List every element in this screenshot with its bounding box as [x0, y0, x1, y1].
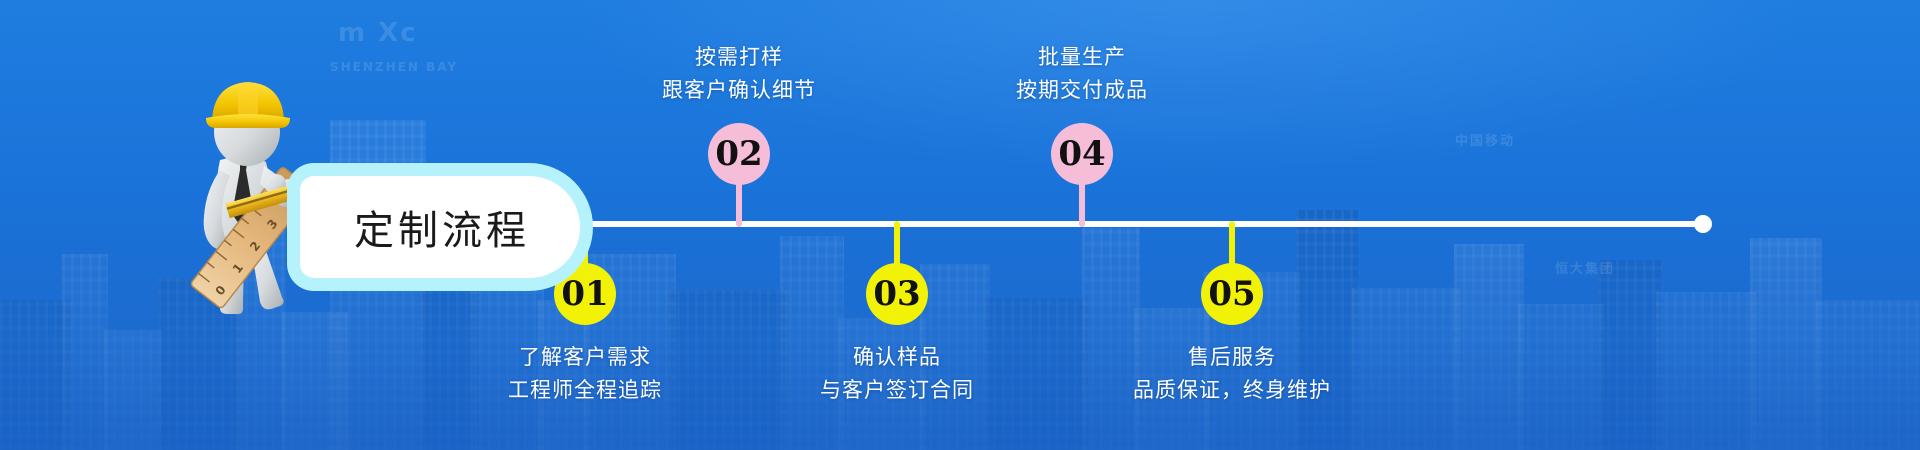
step-caption: 确认样品 与客户签订合同	[820, 341, 974, 407]
step-stem	[736, 179, 742, 227]
watermark-0: m Xc	[338, 18, 418, 48]
step-number-badge[interactable]: 02	[708, 123, 770, 185]
step-caption-line2: 工程师全程追踪	[508, 374, 662, 407]
step-stem	[894, 221, 900, 269]
process-title-badge: 定制流程	[300, 176, 580, 278]
step-number-badge[interactable]: 05	[1201, 263, 1263, 325]
step-caption-line1: 批量生产	[1016, 41, 1148, 74]
page-title: 定制流程	[354, 198, 530, 256]
custom-process-banner: m Xc SHENZHEN BAY 中国移动 恒大集团	[0, 0, 1920, 450]
watermark-2: 中国移动	[1455, 130, 1515, 149]
step-caption: 售后服务 品质保证，终身维护	[1133, 341, 1331, 407]
step-number-badge[interactable]: 03	[866, 263, 928, 325]
timeline-track	[578, 221, 1705, 227]
step-caption-line1: 确认样品	[820, 341, 974, 374]
step-caption-line2: 与客户签订合同	[820, 374, 974, 407]
step-number-badge[interactable]: 01	[554, 263, 616, 325]
step-caption-line2: 跟客户确认细节	[662, 74, 816, 107]
step-stem	[1229, 221, 1235, 269]
step-caption-line1: 售后服务	[1133, 341, 1331, 374]
step-stem	[1079, 179, 1085, 227]
step-caption-line2: 品质保证，终身维护	[1133, 374, 1331, 407]
step-number-badge[interactable]: 04	[1051, 123, 1113, 185]
watermark-3: 恒大集团	[1555, 258, 1615, 277]
step-caption-line1: 按需打样	[662, 41, 816, 74]
step-caption: 了解客户需求 工程师全程追踪	[508, 341, 662, 407]
step-caption: 批量生产 按期交付成品	[1016, 41, 1148, 107]
step-caption-line1: 了解客户需求	[508, 341, 662, 374]
watermark-1: SHENZHEN BAY	[330, 60, 458, 74]
timeline-end-dot	[1694, 215, 1712, 233]
step-stem	[582, 221, 588, 269]
step-caption: 按需打样 跟客户确认细节	[662, 41, 816, 107]
step-caption-line2: 按期交付成品	[1016, 74, 1148, 107]
